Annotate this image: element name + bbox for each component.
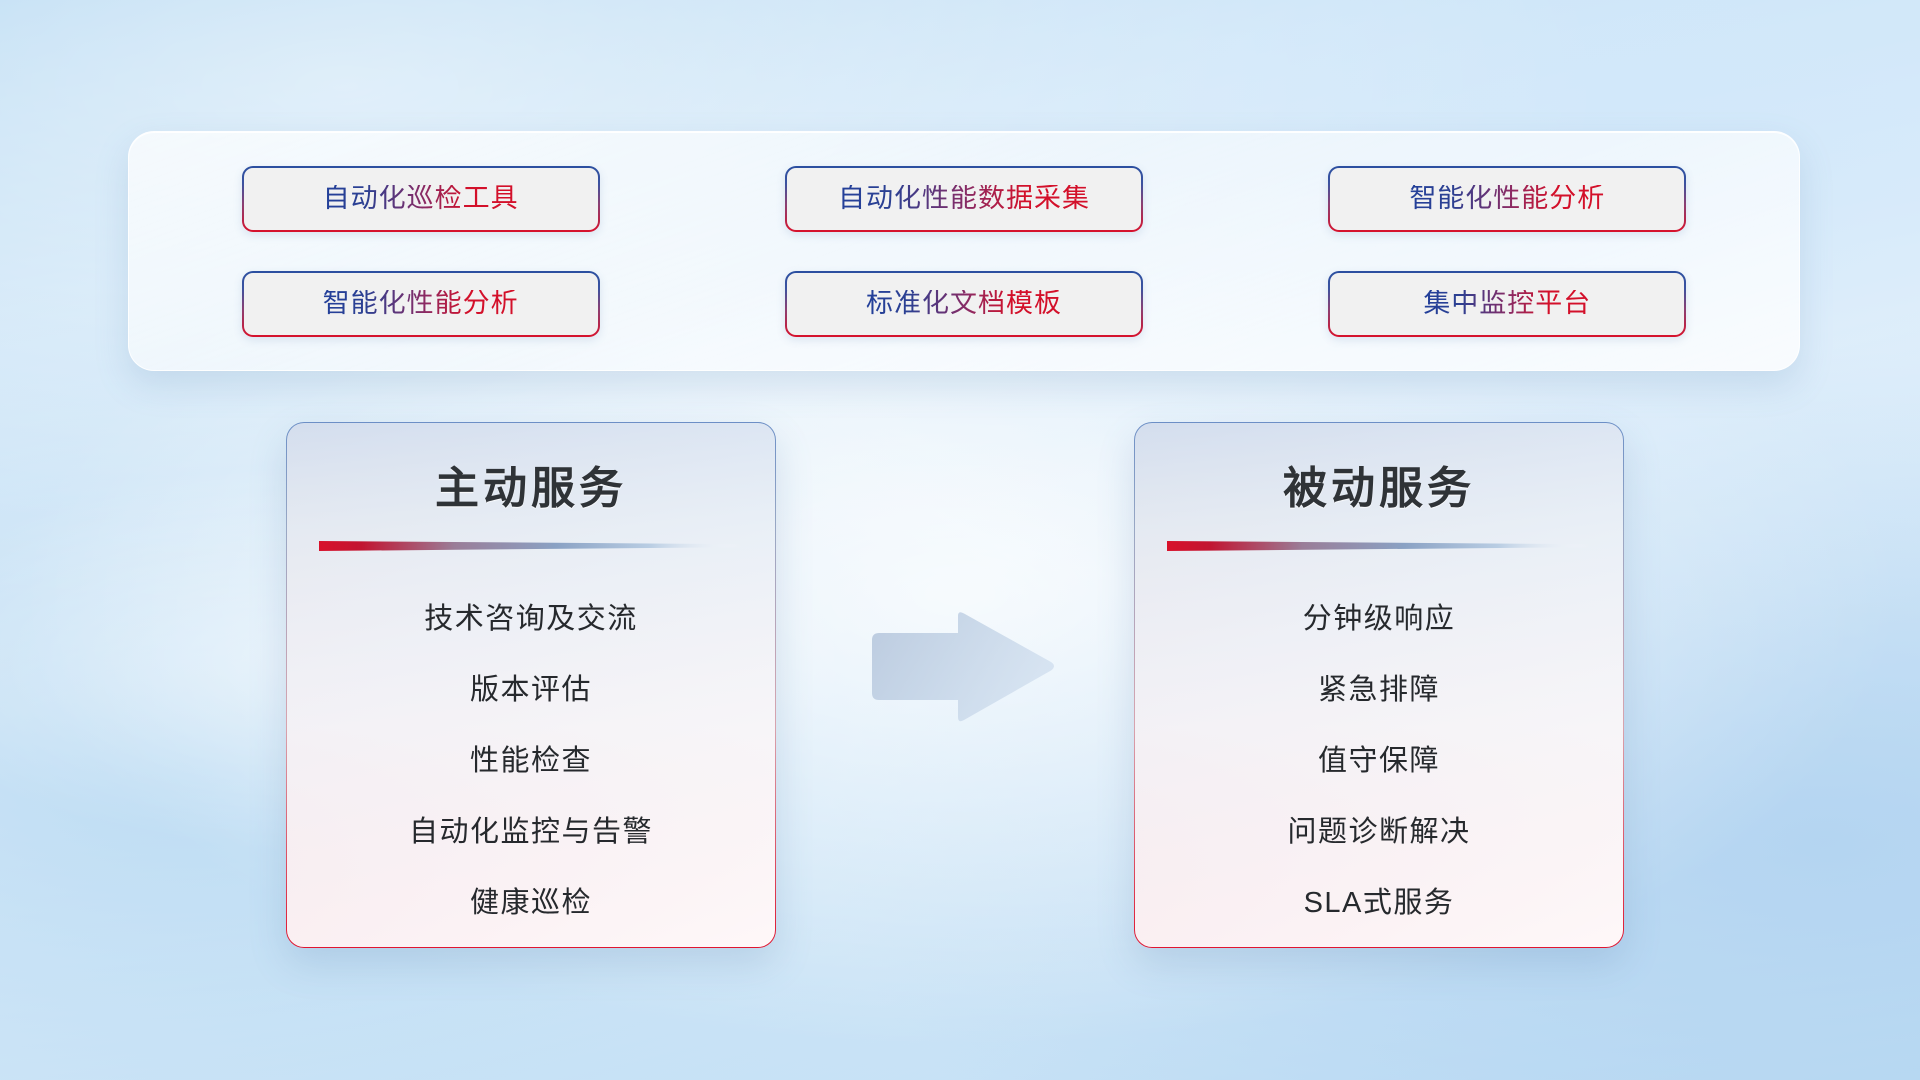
capability-chip-5[interactable]: 标准化文档模板 bbox=[785, 271, 1143, 337]
arrow-right-icon bbox=[866, 610, 1056, 728]
capability-chip-6[interactable]: 集中监控平台 bbox=[1328, 271, 1686, 337]
capability-chip-label: 智能化性能分析 bbox=[1409, 185, 1605, 212]
capability-chip-label: 自动化性能数据采集 bbox=[838, 185, 1090, 212]
service-card-reactive: 被动服务 分钟级响应 紧急排障 值守保障 bbox=[1134, 422, 1624, 948]
card-title: 被动服务 bbox=[1283, 465, 1475, 513]
capability-chip-3[interactable]: 智能化性能分析 bbox=[1328, 166, 1686, 232]
capability-chip-label: 集中监控平台 bbox=[1423, 290, 1591, 317]
capability-chip-4[interactable]: 智能化性能分析 bbox=[242, 271, 600, 337]
card-list-item: 技术咨询及交流 bbox=[424, 584, 638, 655]
card-list-item: 性能检查 bbox=[470, 726, 592, 797]
capability-chip-1[interactable]: 自动化巡检工具 bbox=[242, 166, 600, 232]
capability-chip-label: 自动化巡检工具 bbox=[323, 185, 519, 212]
card-list-item: 紧急排障 bbox=[1318, 655, 1440, 726]
capability-panel: 自动化巡检工具 自动化性能数据采集 智能化性能分析 智能化性能分析 标准化文档模… bbox=[128, 131, 1800, 371]
card-divider bbox=[1167, 539, 1591, 552]
card-divider bbox=[319, 539, 743, 552]
card-item-list: 技术咨询及交流 版本评估 性能检查 自动化监控与告警 健康巡检 bbox=[317, 584, 745, 939]
card-list-item: 值守保障 bbox=[1318, 726, 1440, 797]
card-list-item: 分钟级响应 bbox=[1303, 584, 1456, 655]
card-list-item: SLA式服务 bbox=[1304, 868, 1455, 939]
card-list-item: 版本评估 bbox=[470, 655, 592, 726]
diagram-stage: 自动化巡检工具 自动化性能数据采集 智能化性能分析 智能化性能分析 标准化文档模… bbox=[0, 0, 1920, 1080]
card-title: 主动服务 bbox=[435, 465, 627, 513]
card-list-item: 问题诊断解决 bbox=[1287, 797, 1470, 868]
capability-chip-label: 智能化性能分析 bbox=[323, 290, 519, 317]
service-card-proactive: 主动服务 技术咨询及交流 版本评估 性能检查 bbox=[286, 422, 776, 948]
card-item-list: 分钟级响应 紧急排障 值守保障 问题诊断解决 SLA式服务 bbox=[1165, 584, 1593, 939]
card-list-item: 自动化监控与告警 bbox=[409, 797, 653, 868]
card-list-item: 健康巡检 bbox=[470, 868, 592, 939]
capability-chip-label: 标准化文档模板 bbox=[866, 290, 1062, 317]
capability-chip-2[interactable]: 自动化性能数据采集 bbox=[785, 166, 1143, 232]
